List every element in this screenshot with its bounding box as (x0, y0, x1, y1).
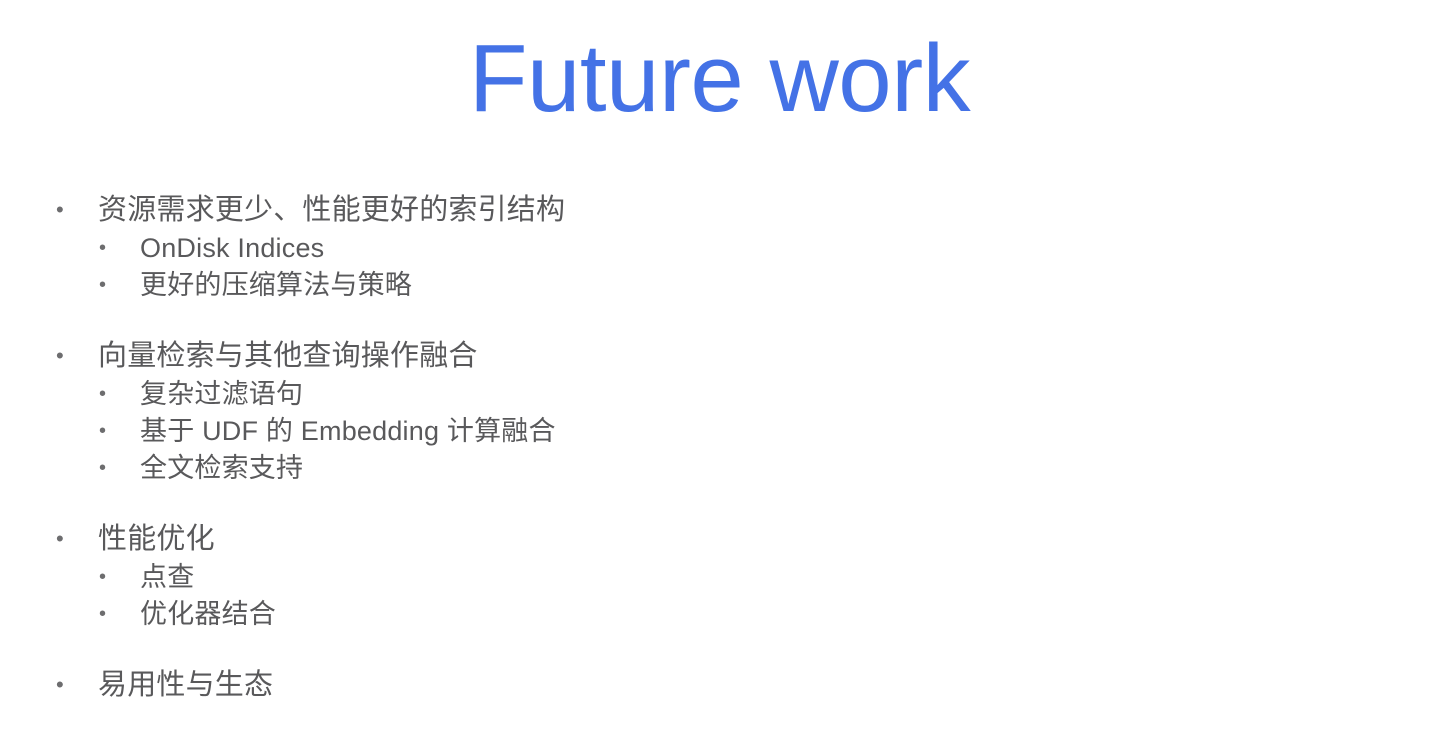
bullet-item-level2[interactable]: • 点查 (0, 559, 1439, 596)
sub-bullet-list: • 点查 • 优化器结合 (0, 559, 1439, 633)
bullet-dot-icon: • (55, 336, 98, 376)
bullet-group: • 性能优化 • 点查 • 优化器结合 (0, 519, 1439, 633)
bullet-label: 易用性与生态 (98, 665, 273, 705)
bullet-item-level2[interactable]: • 全文检索支持 (0, 450, 1439, 487)
bullet-item-level2[interactable]: • 更好的压缩算法与策略 (0, 267, 1439, 304)
bullet-label: 基于 UDF 的 Embedding 计算融合 (140, 413, 556, 450)
bullet-dot-icon: • (99, 230, 140, 267)
bullet-dot-icon: • (99, 596, 140, 633)
bullet-item-level1[interactable]: • 性能优化 (0, 519, 1439, 559)
bullet-dot-icon: • (55, 665, 98, 705)
bullet-item-level1[interactable]: • 向量检索与其他查询操作融合 (0, 336, 1439, 376)
bullet-dot-icon: • (99, 267, 140, 304)
bullet-group: • 向量检索与其他查询操作融合 • 复杂过滤语句 • 基于 UDF 的 Embe… (0, 336, 1439, 487)
bullet-dot-icon: • (99, 450, 140, 487)
bullet-dot-icon: • (99, 559, 140, 596)
sub-bullet-list: • 复杂过滤语句 • 基于 UDF 的 Embedding 计算融合 • 全文检… (0, 376, 1439, 487)
bullet-item-level2[interactable]: • 优化器结合 (0, 596, 1439, 633)
bullet-group: • 资源需求更少、性能更好的索引结构 • OnDisk Indices • 更好… (0, 190, 1439, 304)
bullet-item-level2[interactable]: • 基于 UDF 的 Embedding 计算融合 (0, 413, 1439, 450)
bullet-dot-icon: • (55, 190, 98, 230)
slide-canvas: Future work • 资源需求更少、性能更好的索引结构 • OnDisk … (0, 0, 1439, 738)
bullet-label: 更好的压缩算法与策略 (140, 267, 412, 304)
bullet-label: OnDisk Indices (140, 230, 324, 267)
bullet-group: • 易用性与生态 (0, 665, 1439, 705)
bullet-list: • 资源需求更少、性能更好的索引结构 • OnDisk Indices • 更好… (0, 190, 1439, 705)
bullet-dot-icon: • (99, 376, 140, 413)
bullet-label: 点查 (140, 559, 194, 596)
bullet-item-level2[interactable]: • 复杂过滤语句 (0, 376, 1439, 413)
bullet-item-level1[interactable]: • 易用性与生态 (0, 665, 1439, 705)
bullet-label: 资源需求更少、性能更好的索引结构 (98, 190, 565, 230)
bullet-dot-icon: • (99, 413, 140, 450)
bullet-dot-icon: • (55, 519, 98, 559)
sub-bullet-list: • OnDisk Indices • 更好的压缩算法与策略 (0, 230, 1439, 304)
page-title: Future work (0, 24, 1439, 134)
bullet-label: 复杂过滤语句 (140, 376, 303, 413)
bullet-item-level2[interactable]: • OnDisk Indices (0, 230, 1439, 267)
bullet-label: 全文检索支持 (140, 450, 303, 487)
bullet-label: 向量检索与其他查询操作融合 (98, 336, 478, 376)
bullet-label: 优化器结合 (140, 596, 276, 633)
bullet-item-level1[interactable]: • 资源需求更少、性能更好的索引结构 (0, 190, 1439, 230)
bullet-label: 性能优化 (98, 519, 215, 559)
